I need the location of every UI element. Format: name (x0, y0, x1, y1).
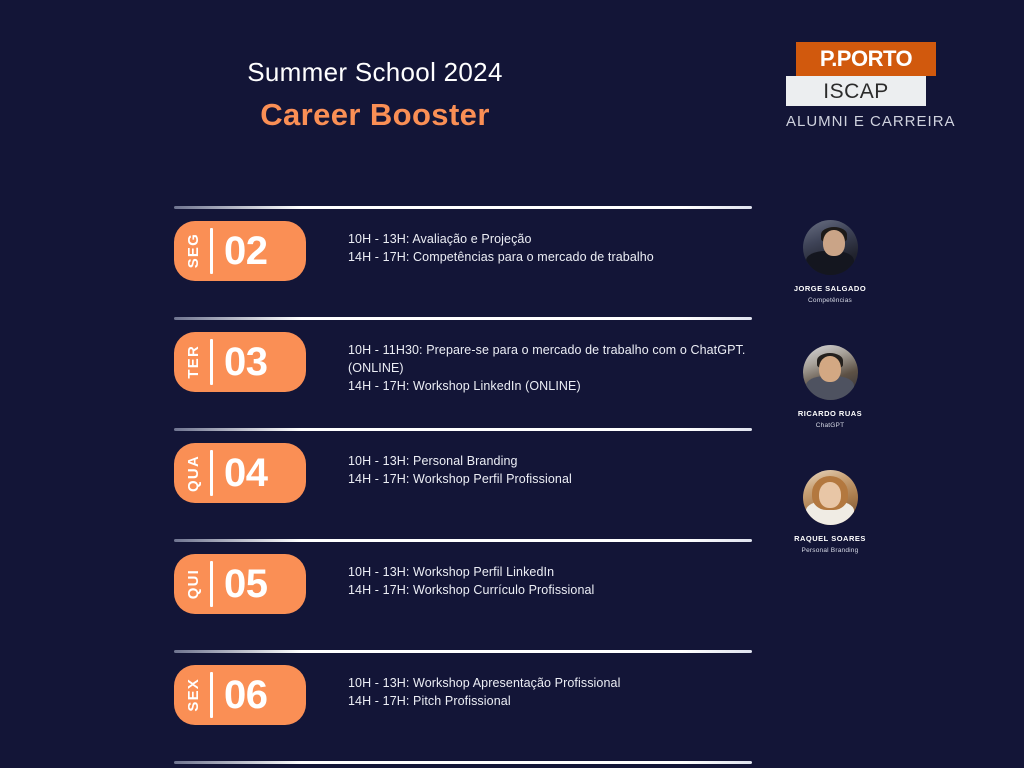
avatar (803, 470, 858, 525)
logo-tagline: ALUMNI E CARREIRA (786, 113, 938, 130)
day-pill-qua[interactable]: QUA 04 (174, 443, 306, 503)
day-number-label: 05 (224, 564, 268, 604)
schedule-row-sex[interactable]: SEX 06 10H - 13H: Workshop Apresentação … (174, 665, 752, 761)
speaker-list: JORGE SALGADO Competências RICARDO RUAS … (770, 220, 890, 594)
day-pill-sex[interactable]: SEX 06 (174, 665, 306, 725)
schedule-list: SEG 02 10H - 13H: Avaliação e Projeção 1… (174, 206, 752, 764)
session-line: 10H - 13H: Workshop Apresentação Profiss… (348, 674, 752, 692)
session-line: 14H - 17H: Workshop Perfil Profissional (348, 470, 752, 488)
speaker-role: ChatGPT (770, 422, 890, 430)
session-line: 10H - 13H: Workshop Perfil LinkedIn (348, 563, 752, 581)
day-abbr-label: TER (186, 345, 201, 379)
logo-band-porto: P.PORTO (796, 42, 936, 76)
schedule-row-qui[interactable]: QUI 05 10H - 13H: Workshop Perfil Linked… (174, 554, 752, 650)
poster-header: Summer School 2024 Career Booster P.PORT… (0, 0, 1024, 175)
day-number-label: 02 (224, 231, 268, 271)
session-list-qui: 10H - 13H: Workshop Perfil LinkedIn 14H … (306, 554, 752, 599)
day-pill-seg[interactable]: SEG 02 (174, 221, 306, 281)
day-separator (210, 450, 213, 496)
iscap-logo: P.PORTO ISCAP ALUMNI E CARREIRA (786, 42, 938, 130)
speaker-name: RICARDO RUAS (770, 409, 890, 418)
logo-text-porto: P.PORTO (820, 48, 912, 70)
speaker-card[interactable]: RAQUEL SOARES Personal Branding (770, 470, 890, 555)
day-separator (210, 561, 213, 607)
schedule-divider-bottom (174, 761, 752, 764)
page-subtitle: Career Booster (175, 98, 575, 132)
day-abbr-label: SEG (186, 233, 201, 268)
logo-band-iscap: ISCAP (786, 76, 926, 106)
day-number-label: 04 (224, 453, 268, 493)
page-title: Summer School 2024 (175, 58, 575, 88)
day-abbr-label: SEX (186, 678, 201, 712)
day-separator (210, 339, 213, 385)
day-abbr-label: QUI (186, 569, 201, 599)
day-number-label: 03 (224, 342, 268, 382)
avatar (803, 345, 858, 400)
day-separator (210, 672, 213, 718)
session-line: 14H - 17H: Competências para o mercado d… (348, 248, 752, 266)
speaker-name: JORGE SALGADO (770, 284, 890, 293)
logo-text-iscap: ISCAP (823, 81, 889, 102)
session-line: 14H - 17H: Workshop Currículo Profission… (348, 581, 752, 599)
day-pill-qui[interactable]: QUI 05 (174, 554, 306, 614)
day-abbr-label: QUA (186, 455, 201, 492)
speaker-name: RAQUEL SOARES (770, 534, 890, 543)
speaker-card[interactable]: RICARDO RUAS ChatGPT (770, 345, 890, 430)
poster-canvas: Summer School 2024 Career Booster P.PORT… (0, 0, 1024, 768)
title-block: Summer School 2024 Career Booster (175, 58, 575, 132)
session-line: 14H - 17H: Pitch Profissional (348, 692, 752, 710)
session-list-sex: 10H - 13H: Workshop Apresentação Profiss… (306, 665, 752, 710)
session-line: 10H - 13H: Avaliação e Projeção (348, 230, 752, 248)
avatar (803, 220, 858, 275)
session-line: 14H - 17H: Workshop LinkedIn (ONLINE) (348, 377, 752, 395)
speaker-role: Personal Branding (770, 547, 890, 555)
speaker-card[interactable]: JORGE SALGADO Competências (770, 220, 890, 305)
session-list-qua: 10H - 13H: Personal Branding 14H - 17H: … (306, 443, 752, 488)
schedule-row-ter[interactable]: TER 03 10H - 11H30: Prepare-se para o me… (174, 332, 752, 428)
day-number-label: 06 (224, 675, 268, 715)
speaker-role: Competências (770, 297, 890, 305)
session-line: 10H - 11H30: Prepare-se para o mercado d… (348, 341, 752, 377)
session-line: 10H - 13H: Personal Branding (348, 452, 752, 470)
schedule-row-qua[interactable]: QUA 04 10H - 13H: Personal Branding 14H … (174, 443, 752, 539)
schedule-row-seg[interactable]: SEG 02 10H - 13H: Avaliação e Projeção 1… (174, 221, 752, 317)
session-list-ter: 10H - 11H30: Prepare-se para o mercado d… (306, 332, 752, 395)
day-pill-ter[interactable]: TER 03 (174, 332, 306, 392)
session-list-seg: 10H - 13H: Avaliação e Projeção 14H - 17… (306, 221, 752, 266)
day-separator (210, 228, 213, 274)
